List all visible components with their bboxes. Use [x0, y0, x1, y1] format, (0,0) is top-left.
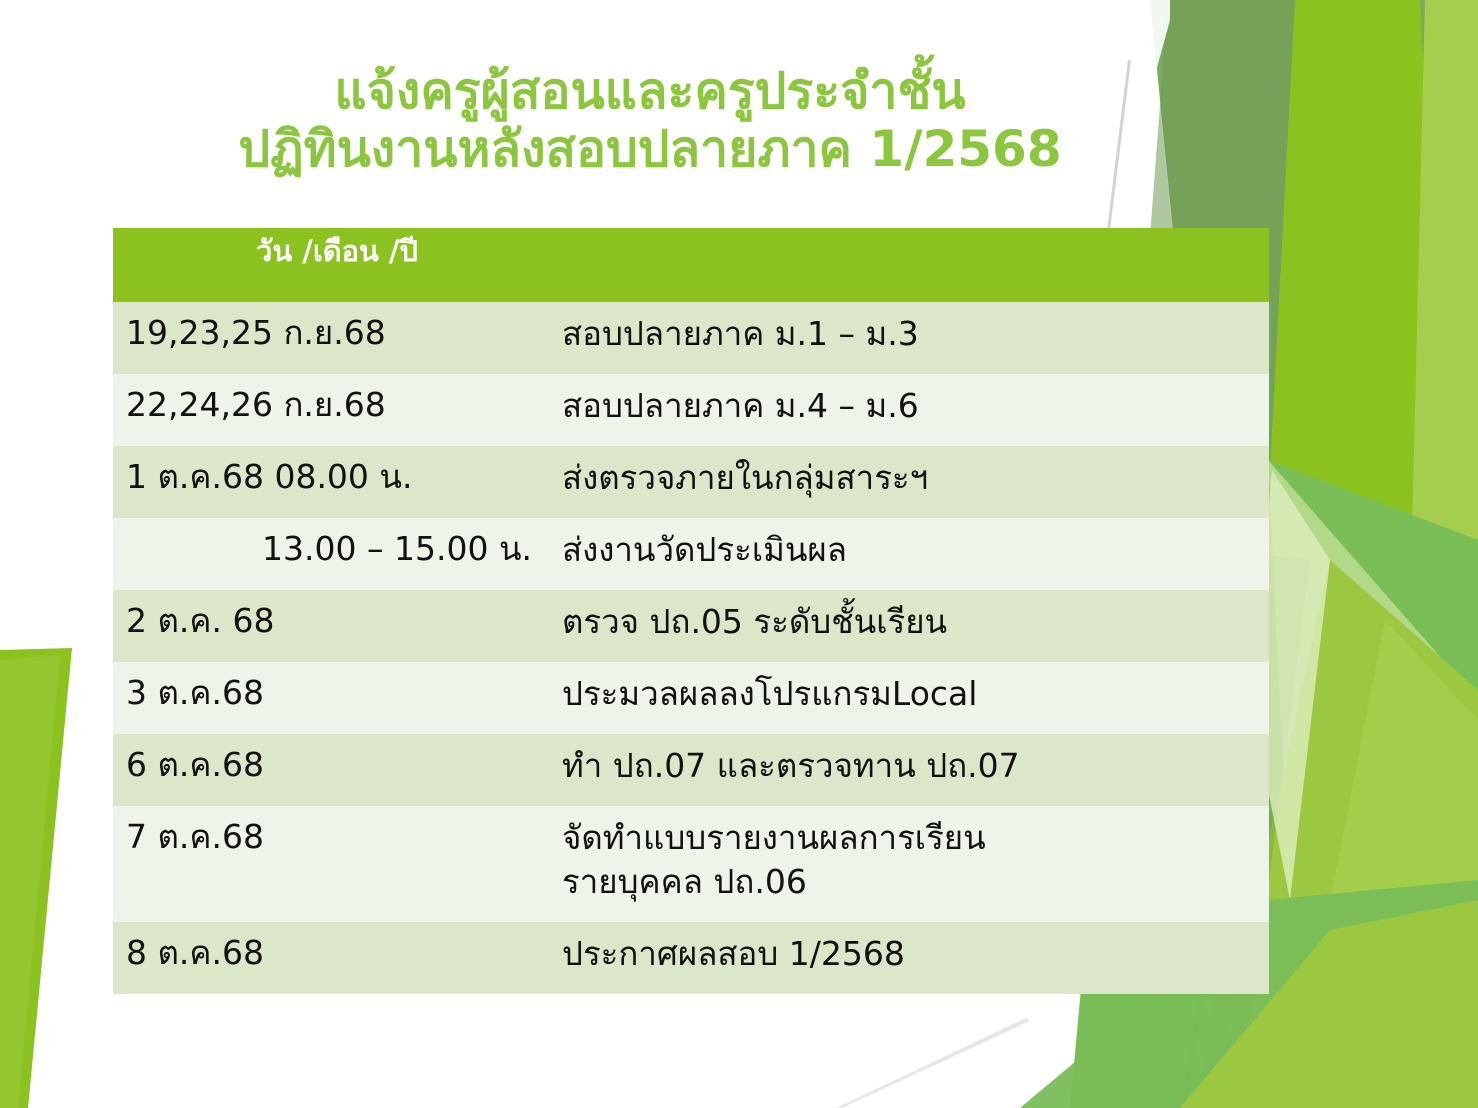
cell-date-text: 22,24,26 ก.ย.68 [113, 374, 548, 443]
cell-date-text: 19,23,25 ก.ย.68 [113, 302, 548, 371]
cell-date: 3 ต.ค.68 [113, 662, 548, 734]
cell-task-line: รายบุคคล ปถ.06 [562, 860, 1255, 904]
cell-date-text: 6 ต.ค.68 [113, 734, 548, 803]
cell-task-text: สอบปลายภาค ม.1 – ม.3 [548, 302, 1269, 374]
table-body: 19,23,25 ก.ย.68สอบปลายภาค ม.1 – ม.322,24… [113, 302, 1269, 994]
decor-bottom-left-wedge-2 [0, 655, 60, 1108]
decor-bottom-left-wedge [0, 648, 72, 1108]
table-row: 7 ต.ค.68จัดทำแบบรายงานผลการเรียนรายบุคคล… [113, 806, 1269, 922]
cell-task-text: ประมวลผลลงโปรแกรมLocal [548, 662, 1269, 734]
table-row: 6 ต.ค.68ทำ ปถ.07 และตรวจทาน ปถ.07 [113, 734, 1269, 806]
title-line-2: ปฏิทินงานหลังสอบปลายภาค 1/2568 [150, 120, 1150, 178]
cell-task: ทำ ปถ.07 และตรวจทาน ปถ.07 [548, 734, 1269, 806]
decor-bottom-hairline [836, 1018, 1030, 1108]
cell-task-line: ส่งงานวัดประเมินผล [562, 528, 1255, 572]
table-row: 13.00 – 15.00 น.ส่งงานวัดประเมินผล [113, 518, 1269, 590]
cell-task: ส่งตรวจภายในกลุ่มสาระฯ [548, 446, 1269, 518]
cell-task: ประมวลผลลงโปรแกรมLocal [548, 662, 1269, 734]
decor-bright-green-band [1262, 0, 1478, 1108]
column-header-date-label: วัน /เดือน /ปี [113, 228, 548, 268]
cell-date-text: 8 ต.ค.68 [113, 922, 548, 991]
table-header-row: วัน /เดือน /ปี [113, 228, 1269, 302]
table-row: 8 ต.ค.68ประกาศผลสอบ 1/2568 [113, 922, 1269, 994]
decor-bright-wedge-lower-2 [1290, 620, 1478, 1108]
cell-date: 2 ต.ค. 68 [113, 590, 548, 662]
cell-task-text: ตรวจ ปถ.05 ระดับชั้นเรียน [548, 590, 1269, 662]
cell-date-text: 3 ต.ค.68 [113, 662, 548, 731]
cell-task: ตรวจ ปถ.05 ระดับชั้นเรียน [548, 590, 1269, 662]
cell-task-text: จัดทำแบบรายงานผลการเรียนรายบุคคล ปถ.06 [548, 806, 1269, 922]
cell-task: สอบปลายภาค ม.1 – ม.3 [548, 302, 1269, 374]
cell-date: 22,24,26 ก.ย.68 [113, 374, 548, 446]
cell-task: ประกาศผลสอบ 1/2568 [548, 922, 1269, 994]
column-header-task-label [548, 228, 1269, 234]
cell-date: 8 ต.ค.68 [113, 922, 548, 994]
cell-date-text: 1 ต.ค.68 08.00 น. [113, 446, 548, 515]
cell-task: สอบปลายภาค ม.4 – ม.6 [548, 374, 1269, 446]
cell-date: 6 ต.ค.68 [113, 734, 548, 806]
title-line-1: แจ้งครูผู้สอนและครูประจำชั้น [150, 62, 1150, 120]
cell-task-text: ประกาศผลสอบ 1/2568 [548, 922, 1269, 994]
table-row: 3 ต.ค.68ประมวลผลลงโปรแกรมLocal [113, 662, 1269, 734]
cell-task-line: สอบปลายภาค ม.1 – ม.3 [562, 312, 1255, 356]
cell-task-line: ส่งตรวจภายในกลุ่มสาระฯ [562, 456, 1255, 500]
decor-pale-triangle-lower [1268, 460, 1478, 1108]
cell-task-line: ตรวจ ปถ.05 ระดับชั้นเรียน [562, 600, 1255, 644]
cell-task-text: ส่งงานวัดประเมินผล [548, 518, 1269, 590]
cell-task-text: ทำ ปถ.07 และตรวจทาน ปถ.07 [548, 734, 1269, 806]
table-head: วัน /เดือน /ปี [113, 228, 1269, 302]
cell-date-text: 13.00 – 15.00 น. [113, 518, 548, 587]
cell-date-text: 2 ต.ค. 68 [113, 590, 548, 659]
cell-date: 13.00 – 15.00 น. [113, 518, 548, 590]
cell-task: ส่งงานวัดประเมินผล [548, 518, 1269, 590]
slide-canvas: แจ้งครูผู้สอนและครูประจำชั้น ปฏิทินงานหล… [0, 0, 1478, 1108]
cell-task-line: ประกาศผลสอบ 1/2568 [562, 932, 1255, 976]
cell-task-text: ส่งตรวจภายในกลุ่มสาระฯ [548, 446, 1269, 518]
table-row: 22,24,26 ก.ย.68สอบปลายภาค ม.4 – ม.6 [113, 374, 1269, 446]
cell-date-text: 7 ต.ค.68 [113, 806, 548, 875]
column-header-task [548, 228, 1269, 302]
calendar-table: วัน /เดือน /ปี 19,23,25 ก.ย.68สอบปลายภาค… [113, 228, 1269, 994]
table-row: 19,23,25 ก.ย.68สอบปลายภาค ม.1 – ม.3 [113, 302, 1269, 374]
decor-right-light-band [1398, 0, 1478, 1108]
cell-date: 1 ต.ค.68 08.00 น. [113, 446, 548, 518]
page-title: แจ้งครูผู้สอนและครูประจำชั้น ปฏิทินงานหล… [150, 62, 1150, 178]
cell-task-line: ประมวลผลลงโปรแกรมLocal [562, 672, 1255, 716]
cell-task-text: สอบปลายภาค ม.4 – ม.6 [548, 374, 1269, 446]
table-row: 1 ต.ค.68 08.00 น.ส่งตรวจภายในกลุ่มสาระฯ [113, 446, 1269, 518]
cell-date: 7 ต.ค.68 [113, 806, 548, 922]
cell-date: 19,23,25 ก.ย.68 [113, 302, 548, 374]
cell-task: จัดทำแบบรายงานผลการเรียนรายบุคคล ปถ.06 [548, 806, 1269, 922]
column-header-date: วัน /เดือน /ปี [113, 228, 548, 302]
cell-task-line: จัดทำแบบรายงานผลการเรียน [562, 816, 1255, 860]
cell-task-line: ทำ ปถ.07 และตรวจทาน ปถ.07 [562, 744, 1255, 788]
table-row: 2 ต.ค. 68ตรวจ ปถ.05 ระดับชั้นเรียน [113, 590, 1269, 662]
cell-task-line: สอบปลายภาค ม.4 – ม.6 [562, 384, 1255, 428]
